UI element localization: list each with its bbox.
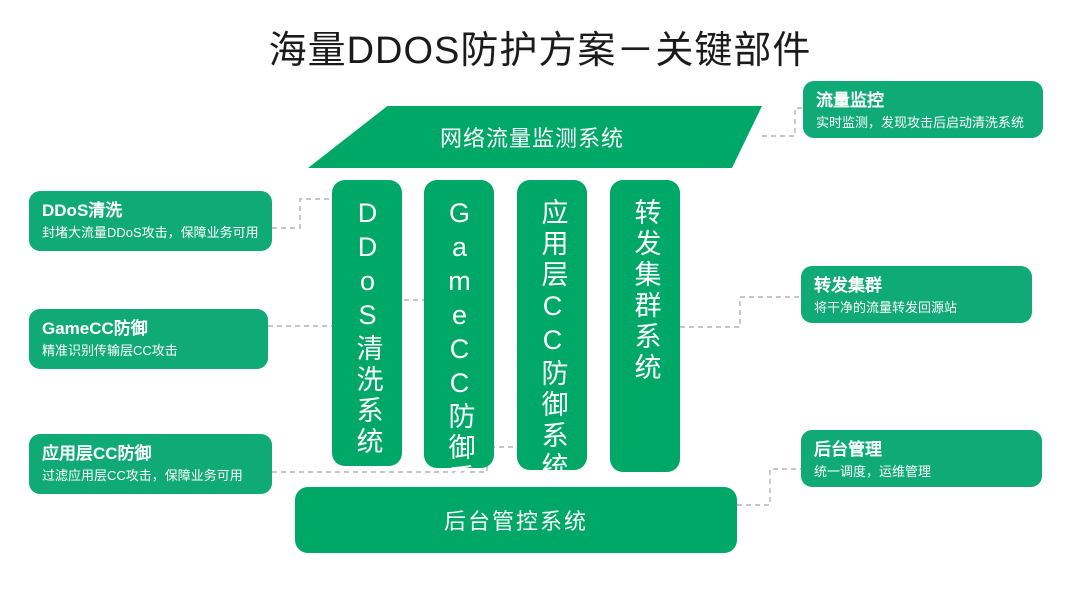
callout-ddos-cleaning[interactable]: DDoS清洗 封堵大流量DDoS攻击，保障业务可用 — [29, 191, 272, 251]
connector-backend-admin — [737, 469, 801, 505]
network-traffic-monitoring-layer[interactable]: 网络流量监测系统 — [278, 106, 762, 168]
callout-description: 封堵大流量DDoS攻击，保障业务可用 — [42, 224, 259, 242]
callout-gamecc-defense[interactable]: GameCC防御 精准识别传输层CC攻击 — [29, 309, 268, 369]
pillar-ddos-cleaning[interactable]: DDoS清洗系统 — [332, 180, 402, 466]
callout-title: 后台管理 — [814, 439, 1029, 461]
diagram-canvas: 海量DDOS防护方案－关键部件 网络流量监测系统 DDoS清洗系统 GameCC… — [0, 0, 1080, 607]
callout-backend-admin[interactable]: 后台管理 统一调度，运维管理 — [801, 430, 1042, 487]
callout-appcc-defense[interactable]: 应用层CC防御 过滤应用层CC攻击，保障业务可用 — [29, 434, 272, 494]
backend-control-layer[interactable]: 后台管控系统 — [295, 487, 737, 553]
pillar-label: GameCC防御系统 — [443, 180, 476, 526]
callout-traffic-monitor[interactable]: 流量监控 实时监测，发现攻击后启动清洗系统 — [803, 81, 1043, 138]
callout-title: 转发集群 — [814, 275, 1019, 297]
callout-description: 统一调度，运维管理 — [814, 463, 1029, 481]
pillar-label: 应用层CC防御系统 — [536, 180, 569, 483]
trapezoid-label: 网络流量监测系统 — [278, 106, 762, 168]
bottom-bar-label: 后台管控系统 — [444, 504, 588, 536]
connector-traffic-monitor — [762, 108, 803, 136]
callout-description: 实时监测，发现攻击后启动清洗系统 — [816, 114, 1030, 132]
pillar-label: 转发集群系统 — [629, 180, 662, 384]
callout-description: 精准识别传输层CC攻击 — [42, 342, 255, 360]
callout-title: 流量监控 — [816, 90, 1030, 112]
connector-ddos-clean — [272, 199, 332, 228]
callout-forwarding-cluster[interactable]: 转发集群 将干净的流量转发回源站 — [801, 266, 1032, 323]
pillar-appcc-defense[interactable]: 应用层CC防御系统 — [517, 180, 587, 470]
callout-title: 应用层CC防御 — [42, 443, 259, 465]
pillar-forwarding-cluster[interactable]: 转发集群系统 — [610, 180, 680, 472]
connector-forward-cluster — [680, 297, 801, 327]
callout-description: 将干净的流量转发回源站 — [814, 299, 1019, 317]
callout-description: 过滤应用层CC攻击，保障业务可用 — [42, 467, 259, 485]
callout-title: GameCC防御 — [42, 318, 255, 340]
callout-title: DDoS清洗 — [42, 200, 259, 222]
pillar-label: DDoS清洗系统 — [351, 180, 384, 458]
pillar-gamecc-defense[interactable]: GameCC防御系统 — [424, 180, 494, 468]
